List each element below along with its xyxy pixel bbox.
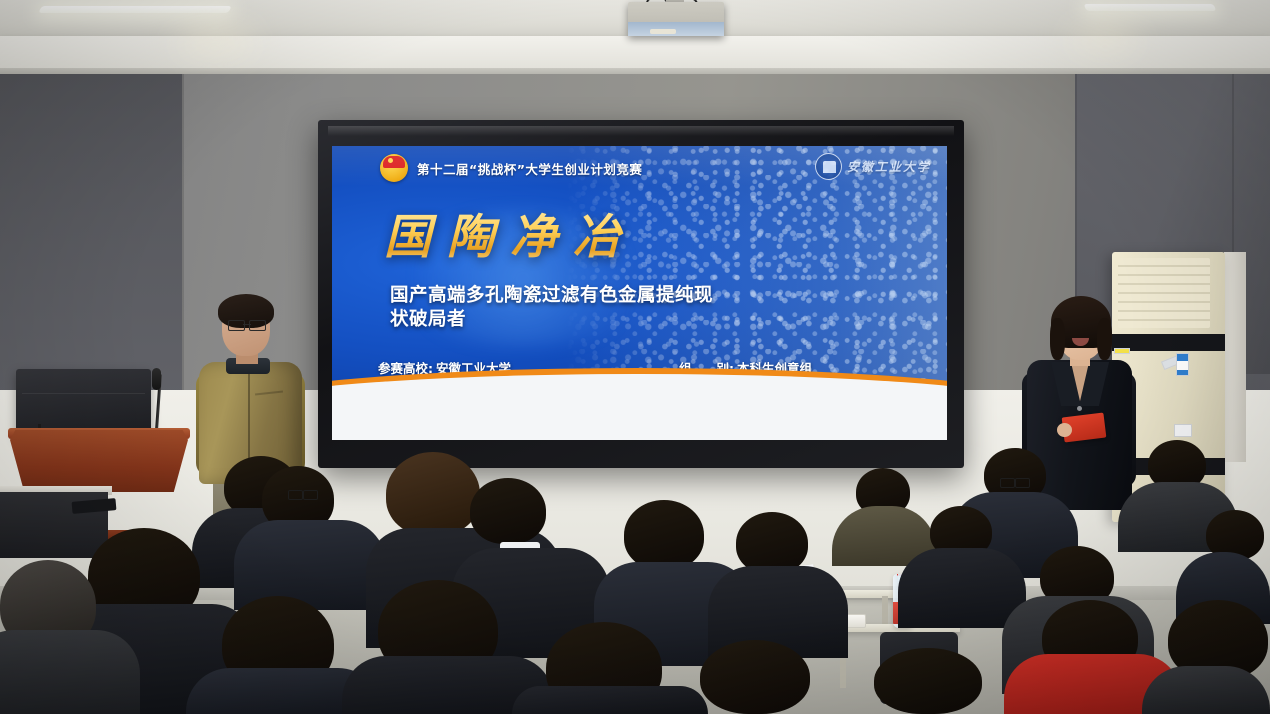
audience-shoulders-far-4 — [898, 548, 1026, 628]
audience-head-mid-4 — [470, 478, 546, 544]
gooseneck-microphone-head — [152, 368, 161, 390]
audience-shoulders-mid-2 — [234, 520, 386, 610]
audience-eyeglasses-2 — [288, 490, 318, 498]
ceiling-light-glow-left — [175, 24, 255, 52]
female-presenter-hair-left — [1050, 318, 1065, 360]
female-presenter-hand — [1057, 423, 1072, 437]
ceiling-light-strip-left — [38, 6, 231, 13]
upper-wall-dark-left — [0, 74, 182, 404]
university-crest-icon — [815, 153, 842, 180]
male-presenter-eyeglasses — [228, 320, 266, 329]
screen-display-area: 第十二届“挑战杯”大学生创业计划竞赛 安徽工业大学 国陶净冶 国产高端多孔陶瓷过… — [332, 146, 947, 440]
ac-energy-label — [1176, 353, 1189, 376]
screen-bezel-highlight — [328, 126, 954, 136]
presentation-screen[interactable]: 第十二届“挑战杯”大学生创业计划竞赛 安徽工业大学 国陶净冶 国产高端多孔陶瓷过… — [318, 120, 964, 468]
audience-head-mid-3 — [386, 452, 480, 536]
audience-shoulders-front-2 — [0, 630, 140, 714]
ac-louvers — [1118, 258, 1210, 328]
competition-title: 第十二届“挑战杯”大学生创业计划竞赛 — [417, 159, 642, 178]
communist-youth-league-emblem — [380, 154, 408, 182]
audience-head-mid-5 — [624, 500, 704, 570]
ceiling-light-glow-right — [1070, 22, 1140, 48]
presentation-room-photo: 第十二届“挑战杯”大学生创业计划竞赛 安徽工业大学 国陶净冶 国产高端多孔陶瓷过… — [0, 0, 1270, 714]
slide-background: 第十二届“挑战杯”大学生创业计划竞赛 安徽工业大学 国陶净冶 国产高端多孔陶瓷过… — [332, 146, 947, 440]
ac-info-sticker — [1174, 424, 1192, 437]
audience-head-mid-6 — [736, 512, 808, 574]
wall-seam-corner — [1232, 74, 1234, 254]
female-presenter-button-1 — [1077, 406, 1082, 411]
audience-head-front-7 — [874, 648, 982, 714]
ceiling-projector — [628, 2, 724, 36]
ceiling-light-strip-right — [1084, 4, 1217, 11]
wall-pipe-cover — [1224, 252, 1246, 462]
podium-monitor — [16, 369, 151, 437]
ac-warning-sticker — [1114, 348, 1130, 354]
female-presenter-hair-right — [1097, 318, 1112, 360]
slide-main-title: 国陶净冶 — [384, 198, 754, 267]
audience-shoulders-front-9 — [1142, 666, 1270, 714]
projector-lens — [650, 29, 676, 34]
slide-white-swoosh — [332, 374, 947, 440]
slide-subtitle: 国产高端多孔陶瓷过滤有色金属提纯现状破局者 — [390, 284, 720, 333]
projector-lens-band — [628, 22, 724, 36]
audience-eyeglasses-1 — [1000, 478, 1030, 486]
wall-seam-left — [182, 74, 184, 404]
audience-shoulders-front-5 — [512, 686, 708, 714]
university-logo: 安徽工业大学 — [815, 153, 931, 180]
university-logo-name: 安徽工业大学 — [847, 158, 931, 175]
wooden-podium — [10, 430, 188, 492]
audience-head-front-6 — [700, 640, 810, 714]
